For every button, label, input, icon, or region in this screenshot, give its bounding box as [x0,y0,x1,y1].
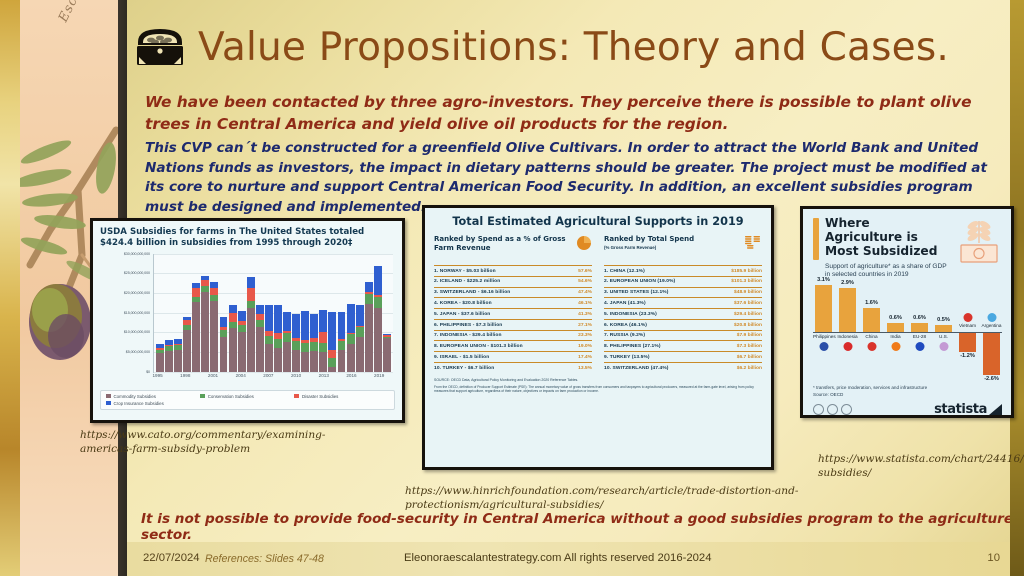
statista-category-label: Vietnam [957,323,978,328]
usda-bar [165,340,173,371]
table-cell-value: 19.0% [578,344,592,349]
statista-bar [887,323,905,332]
table-row: 6. PHILIPPINES - $7.3 billion27.1% [434,319,592,330]
usda-bar-segment [365,294,373,304]
country-flag-icon [915,342,924,351]
supports-left-header-label: Ranked by Spend as a % of Gross Farm Rev… [434,235,572,253]
usda-bar-segment [374,266,382,295]
usda-bar-segment [292,314,300,338]
usda-bar [338,312,346,371]
usda-x-tick: 2010 [291,373,301,378]
usda-bar-segment [356,305,364,326]
usda-bar-segment [328,312,336,349]
table-cell-value: $185.9 billion [731,269,762,274]
usda-bar [328,312,336,371]
usda-bar [347,304,355,371]
table-row: 4. JAPAN (41.3%)$37.6 billion [604,297,762,308]
table-cell-name: 8. EUROPEAN UNION - $101.3 billion [434,344,523,349]
usda-plot-area [153,254,393,373]
cc-icon [813,404,824,415]
pie-chart-icon [576,235,592,251]
table-row: 8. PHILIPPINES (27.1%)$7.3 billion [604,340,762,351]
table-row: 7. INDONESIA - $29.4 billion23.3% [434,330,592,341]
usda-legend-swatch [106,394,111,399]
usda-bar-segment [265,336,273,344]
statista-bar-column: 0.5%U.S. [933,282,954,382]
table-row: 9. ISRAEL - $1.5 billion17.4% [434,351,592,362]
table-cell-value: 57.6% [578,269,592,274]
table-row: 2. ICELAND - $225.2 million54.6% [434,276,592,287]
usda-bar [201,276,209,372]
table-cell-name: 4. KOREA - $20.8 billion [434,301,492,306]
table-cell-value: 13.5% [578,366,592,371]
statista-category-label: Argentina [981,323,1002,328]
table-cell-name: 9. TURKEY (13.5%) [604,355,650,360]
usda-bar [292,314,300,372]
usda-bar-segment [347,304,355,332]
statista-value-label: 0.5% [933,317,954,323]
statista-category-label: EU-28 [909,334,930,339]
statista-bar [863,308,881,332]
table-cell-value: $7.3 billion [737,344,762,349]
usda-bar-segment [283,333,291,342]
table-row: 8. EUROPEAN UNION - $101.3 billion19.0% [434,340,592,351]
table-cell-name: 6. PHILIPPINES - $7.3 billion [434,323,502,328]
statista-heading-wrap: Where Agriculture is Most Subsidized Sup… [825,217,950,280]
statista-value-label: -2.6% [981,376,1002,382]
statista-bar-chart: 3.1%Philippines2.9%Indonesia1.6%China0.6… [813,282,1002,382]
caption-hinrich-url[interactable]: https://www.hinrichfoundation.com/resear… [405,484,805,513]
creative-commons-icons [813,404,852,415]
table-cell-name: 2. ICELAND - $225.2 million [434,279,500,284]
usda-bar-segment [238,325,246,332]
usda-bar-segment [210,288,218,295]
supports-source: SOURCE: OECD Data, Agricultural Policy M… [434,378,762,382]
table-row: 10. SWITZERLAND (47.4%)$6.2 billion [604,362,762,373]
statista-value-label: 0.6% [885,315,906,321]
usda-bar-segment [319,310,327,333]
usda-legend-label: Disaster Subsidies [302,394,338,399]
statista-bar [839,288,857,332]
usda-legend-label: Conservation Subsidies [208,394,254,399]
usda-bar [265,305,273,371]
table-cell-name: 1. NORWAY - $5.03 billion [434,269,496,274]
supports-right-rows: 1. CHINA (12.1%)$185.9 billion2. EUROPEA… [604,265,762,373]
usda-bar [183,317,191,372]
left-gold-edge [0,0,20,576]
usda-legend-item: Disaster Subsidies [294,394,388,399]
table-cell-name: 10. SWITZERLAND (47.4%) [604,366,669,371]
statista-bottom-row: statista [813,402,1002,417]
usda-bar-segment [338,350,346,371]
usda-bar [210,282,218,372]
usda-y-axis-labels: $0$5,000,000,000$10,000,000,000$15,000,0… [100,254,152,372]
table-cell-value: $48.9 billion [734,290,762,295]
usda-bar-segment [192,288,200,297]
coins-icon [744,235,762,250]
table-cell-name: 3. UNITED STATES (12.1%) [604,290,668,295]
statista-bar [983,333,1001,375]
table-cell-value: 41.3% [578,312,592,317]
statista-wordmark: statista [934,402,987,417]
usda-legend-swatch [106,401,111,406]
table-cell-name: 7. INDONESIA - $29.4 billion [434,333,502,338]
table-row: 9. TURKEY (13.5%)$6.7 billion [604,351,762,362]
closing-statement: It is not possible to provide food-secur… [141,511,1021,543]
supports-left-rows: 1. NORWAY - $5.03 billion57.6%2. ICELAND… [434,265,592,373]
statista-bar-column: 1.6%China [861,282,882,382]
statista-category-label: China [861,334,882,339]
table-cell-value: $20.8 billion [734,323,762,328]
table-cell-value: 27.1% [578,323,592,328]
statista-bar-column: -2.6%Argentina [981,282,1002,382]
table-cell-value: 23.3% [578,333,592,338]
usda-bar-segment [301,343,309,352]
usda-y-tick: $20,000,000,000 [124,291,150,295]
statista-bar-column: 3.1%Philippines [813,282,834,382]
statista-header: Where Agriculture is Most Subsidized Sup… [813,217,1002,280]
usda-bar-segment [292,350,300,372]
usda-y-tick: $30,000,000,000 [124,252,150,256]
statista-value-label: 3.1% [813,277,834,283]
table-row: 3. SWITZERLAND - $6.16 billion47.4% [434,287,592,298]
statista-category-label: U.S. [933,334,954,339]
usda-bar-segment [365,282,373,292]
usda-bar-segment [328,358,336,367]
usda-bar-group [156,254,391,372]
statista-bar-column: -1.2%Vietnam [957,282,978,382]
country-flag-icon [963,313,972,322]
country-flag-icon [843,342,852,351]
usda-bar-segment [319,343,327,352]
usda-bar [156,344,164,372]
usda-legend-label: Crop Insurance Subsidies [114,401,164,406]
usda-y-tick: $15,000,000,000 [124,311,150,315]
usda-bar-segment [220,317,228,327]
table-cell-value: 46.1% [578,301,592,306]
table-row: 10. TURKEY - $6.7 billion13.5% [434,362,592,373]
usda-bar-segment [310,314,318,338]
statista-value-label: 0.6% [909,315,930,321]
table-row: 6. KOREA (46.1%)$20.8 billion [604,319,762,330]
usda-chart-title: USDA Subsidies for farms in The United S… [100,227,395,250]
usda-bar [310,314,318,372]
supports-left-column: Ranked by Spend as a % of Gross Farm Rev… [434,235,592,373]
usda-x-tick: 2016 [346,373,356,378]
usda-bar-segment [319,352,327,372]
table-row: 1. CHINA (12.1%)$185.9 billion [604,265,762,276]
usda-y-tick: $25,000,000,000 [124,271,150,275]
usda-x-tick: 2007 [263,373,273,378]
cc-nd-icon [841,404,852,415]
usda-bar [365,282,373,371]
usda-bar-segment [356,337,364,371]
usda-bar-segment [247,288,255,301]
statista-accent-bar [813,218,819,260]
supports-table-title: Total Estimated Agricultural Supports in… [434,215,762,228]
usda-bar [274,305,282,371]
table-row: 2. EUROPEAN UNION (19.0%)$101.3 billion [604,276,762,287]
usda-bar-segment [338,312,346,339]
usda-plot-wrapper: $0$5,000,000,000$10,000,000,000$15,000,0… [100,254,395,388]
usda-bar-segment [319,332,327,342]
title-row: Value Propositions: Theory and Cases. [134,24,949,70]
usda-bar-segment [283,342,291,372]
usda-bar-segment [301,311,309,340]
usda-bar [247,277,255,371]
statista-value-label: 1.6% [861,300,882,306]
statista-category-label: Philippines [813,334,834,339]
supports-footer: SOURCE: OECD Data, Agricultural Policy M… [434,378,762,394]
statista-chart-panel: Where Agriculture is Most Subsidized Sup… [800,206,1014,418]
statista-title: Where Agriculture is Most Subsidized [825,217,950,259]
usda-bar-segment [201,292,209,371]
statista-category-label: Indonesia [837,334,858,339]
usda-x-tick: 1995 [152,373,162,378]
usda-legend-swatch [200,394,205,399]
statista-bar-column: 0.6%India [885,282,906,382]
usda-bar-segment [256,327,264,371]
usda-bar-segment [283,312,291,331]
usda-bar-segment [256,320,264,327]
usda-bar-segment [229,322,237,329]
table-cell-value: 54.6% [578,279,592,284]
table-cell-value: 17.4% [578,355,592,360]
wheat-and-money-icon [956,217,1002,265]
usda-bar-segment [374,308,382,372]
statista-category-label: India [885,334,906,339]
footer-date: 22/07/2024 [143,552,200,564]
usda-y-tick: $5,000,000,000 [126,350,150,354]
table-cell-name: 3. SWITZERLAND - $6.16 billion [434,290,510,295]
statista-bar [959,333,977,352]
country-flag-icon [819,342,828,351]
table-cell-name: 9. ISRAEL - $1.5 billion [434,355,489,360]
country-flag-icon [867,342,876,351]
usda-bar [374,266,382,371]
usda-bar-segment [183,330,191,372]
slide-canvas: Escalante Value [0,0,1024,576]
statista-bar [911,323,929,332]
page-title: Value Propositions: Theory and Cases. [198,28,949,67]
usda-bar-segment [374,297,382,307]
usda-legend-item: Crop Insurance Subsidies [106,401,200,406]
agricultural-supports-table-panel: Total Estimated Agricultural Supports in… [422,205,774,470]
table-cell-name: 8. PHILIPPINES (27.1%) [604,344,661,349]
paragraph-investors: We have been contacted by three agro-inv… [145,92,1000,136]
country-flag-icon [987,313,996,322]
table-row: 5. INDONESIA (23.3%)$29.4 billion [604,308,762,319]
usda-bar [301,311,309,372]
usda-y-tick: $10,000,000,000 [124,330,150,334]
usda-bar [319,310,327,372]
usda-bar-segment [347,334,355,344]
supports-columns: Ranked by Spend as a % of Gross Farm Rev… [434,235,762,373]
table-cell-name: 5. INDONESIA (23.3%) [604,312,657,317]
table-cell-name: 10. TURKEY - $6.7 billion [434,366,494,371]
usda-bar [283,312,291,372]
usda-bar-segment [156,353,164,371]
usda-bar-segment [338,341,346,351]
table-cell-name: 7. RUSSIA (9.2%) [604,333,645,338]
usda-bar-segment [210,301,218,372]
table-cell-name: 6. KOREA (46.1%) [604,323,647,328]
table-row: 1. NORWAY - $5.03 billion57.6% [434,265,592,276]
usda-bar-segment [192,302,200,371]
table-row: 7. RUSSIA (9.2%)$7.9 billion [604,330,762,341]
usda-bar-segment [165,351,173,371]
usda-bar-segment [238,332,246,372]
statista-source: Source: OECD [813,392,1002,398]
statista-subtitle: Support of agriculture* as a share of GD… [825,263,950,280]
usda-bar-segment [274,348,282,372]
table-row: 4. KOREA - $20.8 billion46.1% [434,297,592,308]
usda-bar-segment [265,305,273,331]
table-cell-name: 1. CHINA (12.1%) [604,269,645,274]
supports-note: From the OECD, definition of Producer Su… [434,385,762,394]
table-cell-name: 5. JAPAN - $37.6 billion [434,312,490,317]
usda-bar-segment [347,344,355,372]
usda-bar-segment [292,341,300,350]
usda-bar [220,317,228,372]
usda-bar-segment [310,351,318,371]
statista-value-label: -1.2% [957,353,978,359]
caption-statista-url[interactable]: https://www.statista.com/chart/24416/agr… [818,452,1008,481]
usda-bar-segment [274,339,282,347]
caption-cato-url[interactable]: https://www.cato.org/commentary/examinin… [80,428,325,457]
usda-x-axis-labels: 199519982001200420072010201320162019 [153,373,393,385]
supports-right-subheader: (% Gross Farm Revenue) [604,245,694,250]
supports-right-header: Ranked by Total Spend (% Gross Farm Reve… [604,235,762,261]
supports-left-header: Ranked by Spend as a % of Gross Farm Rev… [434,235,592,261]
usda-bar-segment [247,277,255,288]
footer-copyright: Eleonoraescalantestrategy.com All rights… [404,552,712,564]
usda-bar-segment [174,350,182,372]
usda-x-tick: 2001 [208,373,218,378]
statista-logo: statista [934,402,1002,417]
usda-subsidies-chart-panel: USDA Subsidies for farms in The United S… [90,218,405,423]
supports-right-header-label: Ranked by Total Spend [604,235,694,244]
table-row: 3. UNITED STATES (12.1%)$48.9 billion [604,287,762,298]
usda-bar-segment [247,301,255,308]
usda-bar [256,305,264,371]
usda-bar [174,339,182,371]
supports-right-column: Ranked by Total Spend (% Gross Farm Reve… [604,235,762,373]
statista-bar-column: 0.6%EU-28 [909,282,930,382]
usda-bar [356,305,364,372]
usda-bar-segment [328,367,336,372]
footer-page-number: 10 [987,552,1000,564]
table-cell-value: $6.2 billion [737,366,762,371]
table-cell-value: $101.3 billion [731,279,762,284]
usda-bar-segment [383,338,391,372]
usda-bar-segment [229,313,237,322]
usda-bar-segment [301,352,309,372]
usda-legend-swatch [294,394,299,399]
usda-x-tick: 2004 [236,373,246,378]
table-cell-value: $7.9 billion [737,333,762,338]
usda-bar-segment [328,350,336,358]
statista-value-label: 2.9% [837,280,858,286]
table-row: 5. JAPAN - $37.6 billion41.3% [434,308,592,319]
usda-bar-segment [365,304,373,371]
usda-bar-segment [256,305,264,314]
country-flag-icon [939,342,948,351]
statista-bar [815,285,833,332]
table-cell-name: 2. EUROPEAN UNION (19.0%) [604,279,675,284]
statista-bars: 3.1%Philippines2.9%Indonesia1.6%China0.6… [813,282,1002,382]
usda-bar-segment [265,344,273,372]
table-cell-value: 47.4% [578,290,592,295]
usda-legend: Commodity SubsidiesConservation Subsidie… [100,390,395,410]
statista-bar [935,325,953,333]
statista-footer: * transfers, price moderation, services … [813,385,1002,417]
statista-logo-mark [989,404,1002,415]
usda-x-tick: 1998 [180,373,190,378]
usda-legend-item: Commodity Subsidies [106,394,200,399]
usda-bar-segment [356,327,364,337]
usda-bar-segment [238,311,246,322]
usda-bar-segment [247,308,255,372]
usda-bar-segment [274,305,282,333]
usda-bar [383,334,391,371]
table-cell-value: $6.7 billion [737,355,762,360]
usda-x-tick: 2019 [374,373,384,378]
footer-references: References: Slides 47-48 [205,553,324,565]
usda-legend-label: Commodity Subsidies [114,394,156,399]
treasure-chest-icon [134,24,186,70]
usda-legend-item: Conservation Subsidies [200,394,294,399]
table-cell-name: 4. JAPAN (41.3%) [604,301,646,306]
usda-bar [192,283,200,371]
usda-bar-segment [229,305,237,313]
table-cell-value: $29.4 billion [734,312,762,317]
usda-bar-segment [220,337,228,372]
usda-y-tick: $0 [146,370,150,374]
cc-by-icon [827,404,838,415]
usda-bar [238,311,246,372]
usda-bar-segment [229,328,237,371]
footer: 22/07/2024 References: Slides 47-48 Eleo… [127,551,1010,571]
usda-bar [229,305,237,372]
table-cell-value: $37.6 billion [734,301,762,306]
usda-x-tick: 2013 [319,373,329,378]
statista-bar-column: 2.9%Indonesia [837,282,858,382]
country-flag-icon [891,342,900,351]
usda-bar-segment [310,342,318,351]
